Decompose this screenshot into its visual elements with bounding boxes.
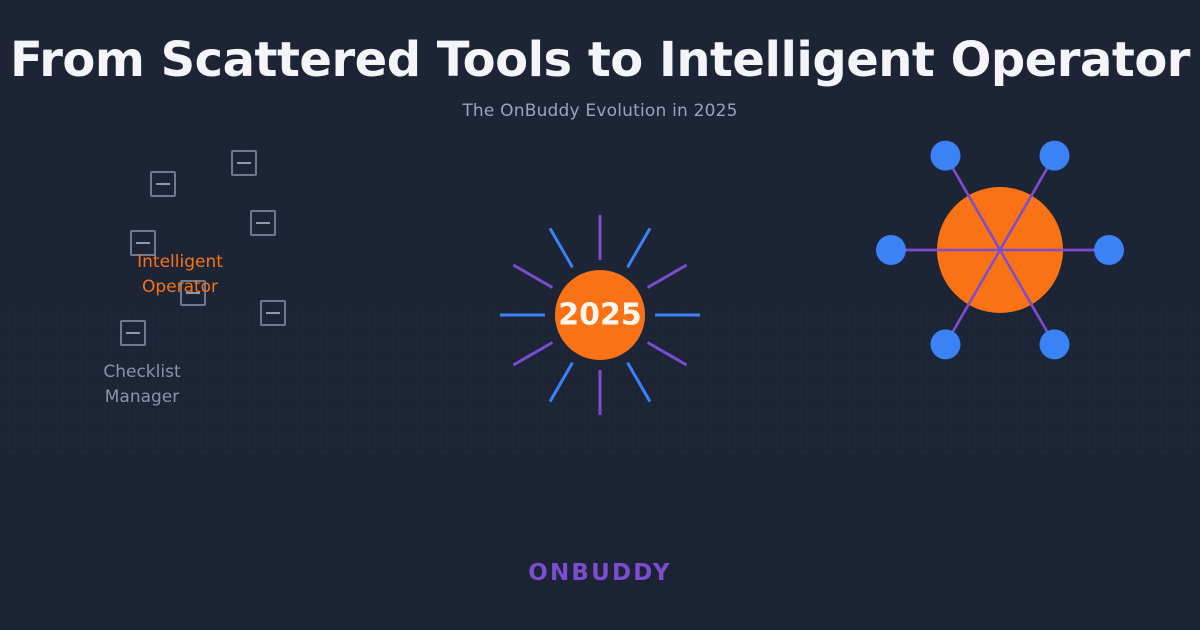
hub-node-upper-left — [931, 141, 961, 171]
checkbox-icon — [120, 320, 146, 346]
intelligent-operator-cluster — [840, 110, 1160, 410]
sunburst-ray — [648, 343, 687, 366]
checkbox-icon — [150, 171, 176, 197]
brand-wordmark: ONBUDDY — [0, 560, 1200, 586]
right-cluster-label: Intelligent Operator — [80, 250, 280, 300]
hub-node-left — [876, 235, 906, 265]
sunburst-ray — [628, 363, 651, 402]
header: From Scattered Tools to Intelligent Oper… — [0, 0, 1200, 121]
sunburst-ray — [628, 228, 651, 267]
right-cluster-label-line1: Intelligent — [80, 250, 280, 275]
year-sunburst: 2025 — [460, 175, 740, 455]
sunburst-ray — [550, 363, 573, 402]
right-cluster-label-line2: Operator — [80, 275, 280, 300]
hub-node-lower-left — [931, 329, 961, 359]
checkbox-icon — [260, 300, 286, 326]
sunburst-ray — [648, 265, 687, 288]
sunburst-hub-label: 2025 — [558, 298, 642, 333]
sunburst-ray — [550, 228, 573, 267]
sunburst-svg: 2025 — [460, 175, 740, 455]
hub-node-lower-right — [1040, 329, 1070, 359]
infographic-canvas: From Scattered Tools to Intelligent Oper… — [0, 0, 1200, 630]
hub-connector-overlay-group — [891, 156, 1109, 345]
left-cluster-label-line2: Manager — [42, 385, 242, 410]
left-cluster-label: Checklist Manager — [42, 360, 242, 410]
sunburst-ray — [513, 265, 552, 288]
hub-node-upper-right — [1040, 141, 1070, 171]
hub-node-right — [1094, 235, 1124, 265]
left-cluster-label-line1: Checklist — [42, 360, 242, 385]
sunburst-ray — [513, 343, 552, 366]
hub-network-svg — [840, 110, 1160, 400]
checkbox-icon — [250, 210, 276, 236]
page-title: From Scattered Tools to Intelligent Oper… — [0, 36, 1200, 84]
background-lower-band — [0, 455, 1200, 630]
checkbox-icon — [231, 150, 257, 176]
